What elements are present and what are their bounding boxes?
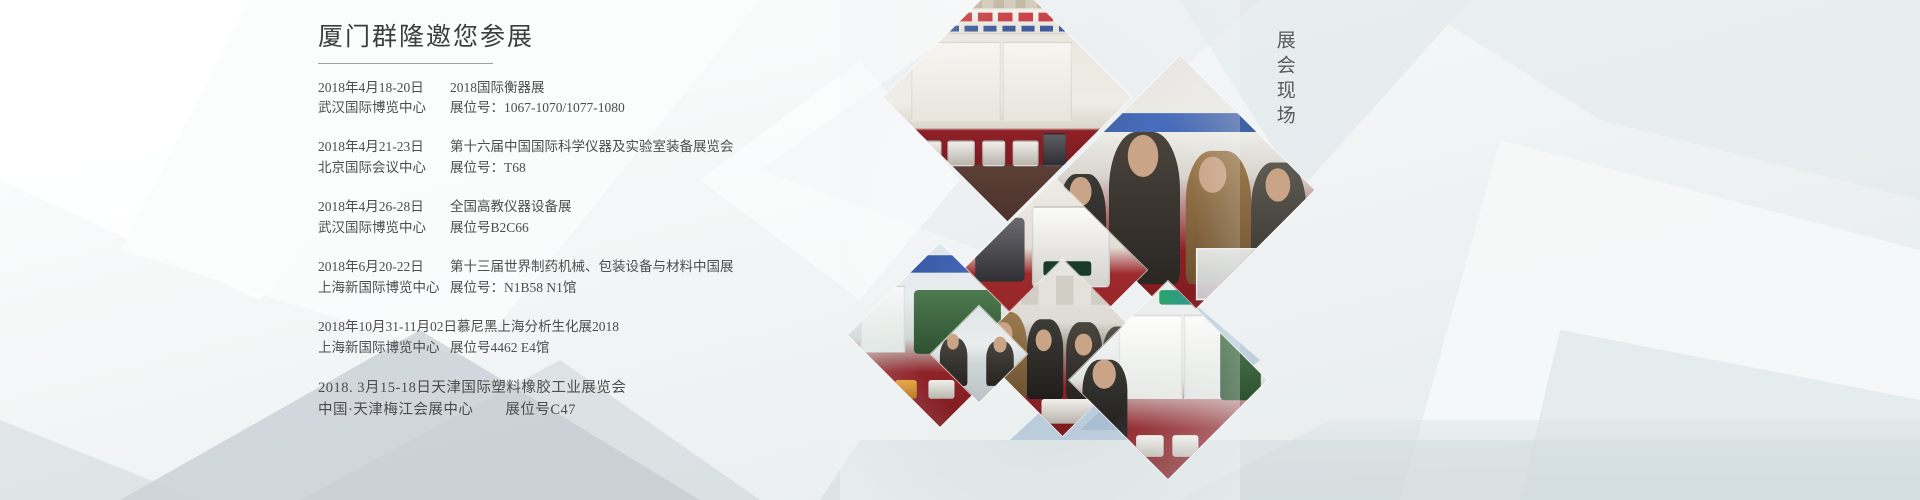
event-booth: 展位号C47 [505, 399, 576, 421]
title-divider [318, 63, 493, 64]
event-name: 第十三届世界制药机械、包装设备与材料中国展 [450, 257, 734, 278]
attendee-head [994, 336, 1007, 352]
visitor-head [1128, 135, 1158, 176]
vertical-section-label: 展会现场 [1272, 30, 1296, 130]
booth-instrument [1013, 140, 1039, 166]
event-venue: 北京国际会议中心 [318, 158, 450, 179]
event-venue: 中国·天津梅江会展中心 [318, 399, 473, 421]
event-date: 2018年4月18-20日 [318, 78, 450, 99]
event-name: 2018国际衡器展 [450, 78, 545, 99]
event-venue: 上海新国际博览中心 [318, 338, 450, 359]
stand-product [929, 380, 955, 399]
staff-head [1093, 360, 1115, 388]
event-date: 2018年4月26-28日 [318, 197, 450, 218]
event-date: 2018. 3月15-18日天津国际塑料橡胶工业展览会 [318, 377, 626, 399]
event-date: 2018年10月31-11月02日 [318, 317, 457, 338]
instrument-dark [976, 217, 1025, 281]
event-date: 2018年4月21-23日 [318, 137, 450, 158]
booth-instrument [916, 140, 942, 166]
booth-instrument [982, 140, 1005, 166]
booth-poster-left [1119, 315, 1183, 399]
booth-sign-red-text [896, 12, 1119, 21]
visitor-head [1035, 329, 1051, 351]
machinery-unit [1221, 331, 1262, 400]
demo-instrument [1041, 398, 1099, 423]
booth-instrument [947, 140, 975, 166]
event-booth: 展位号：1067-1070/1077-1080 [450, 98, 625, 119]
event-booth: 展位号4462 E4馆 [450, 338, 549, 359]
booth-instrument [1043, 133, 1066, 166]
stand-product [865, 380, 888, 399]
stand-poster [861, 286, 905, 353]
visitor-head [1075, 333, 1091, 355]
balance-glass-case [1197, 248, 1272, 300]
event-name: 慕尼黑上海分析生化展2018 [457, 317, 619, 338]
photo-collage [840, 0, 1240, 500]
event-venue: 上海新国际博览中心 [318, 278, 450, 299]
booth-product [1172, 435, 1198, 457]
booth-poster-left [911, 42, 1000, 121]
booth-product [1136, 435, 1164, 457]
event-venue: 武汉国际博览中心 [318, 218, 450, 239]
event-booth: 展位号B2C66 [450, 218, 529, 239]
booth-poster-right [1002, 42, 1071, 121]
event-booth: 展位号：N1B58 N1馆 [450, 278, 576, 299]
event-date: 2018年6月20-22日 [318, 257, 450, 278]
booth-poster-right [1184, 315, 1223, 399]
exhibition-banner: 厦门群隆邀您参展 2018年4月18-20日2018国际衡器展 武汉国际博览中心… [0, 0, 1920, 500]
event-name: 全国高教仪器设备展 [450, 197, 572, 218]
event-booth: 展位号：T68 [450, 158, 526, 179]
visitor-head [1265, 168, 1290, 201]
event-venue: 武汉国际博览中心 [318, 98, 450, 119]
booth-sign-blue-text [926, 25, 1088, 31]
stand-product [895, 380, 918, 399]
event-name: 第十六届中国国际科学仪器及实验室装备展览会 [450, 137, 734, 158]
